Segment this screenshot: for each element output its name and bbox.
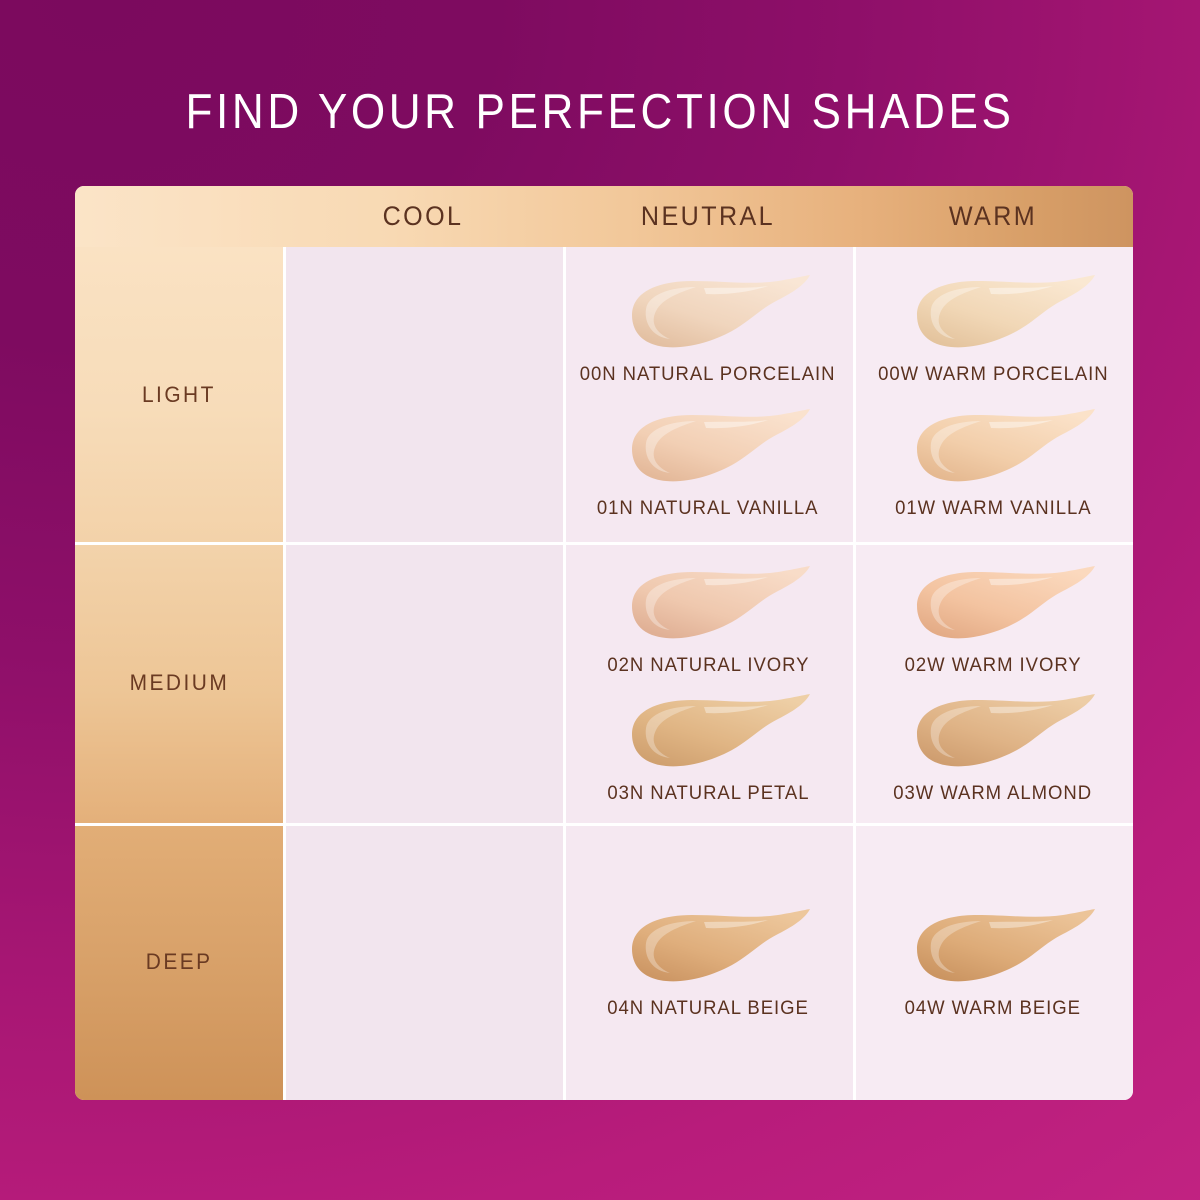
foundation-swatch-icon (885, 903, 1101, 995)
header-cell-warm: WARM (863, 186, 1123, 247)
foundation-swatch-icon (600, 688, 816, 780)
shade-item[interactable]: 00N NATURAL PORCELAIN (563, 269, 853, 386)
cell-medium-cool (283, 542, 563, 823)
header-cell-neutral: NEUTRAL (573, 186, 843, 247)
table-header-row: COOL NEUTRAL WARM (75, 186, 1133, 247)
tone-label-light: LIGHT (142, 382, 216, 408)
tone-label-deep: DEEP (146, 949, 213, 975)
shade-item[interactable]: 04N NATURAL BEIGE (563, 903, 853, 1020)
header-cell-cool: COOL (293, 186, 553, 247)
shade-name: 00W WARM PORCELAIN (878, 363, 1109, 386)
cell-deep-cool (283, 823, 563, 1100)
tone-cell-deep: DEEP (75, 823, 283, 1100)
shade-item[interactable]: 00W WARM PORCELAIN (853, 269, 1133, 386)
tone-label-medium: MEDIUM (129, 670, 229, 696)
cell-deep-warm: 04W WARM BEIGE (853, 823, 1133, 1100)
shade-name: 02N NATURAL IVORY (607, 654, 809, 677)
foundation-swatch-icon (885, 269, 1101, 361)
table-row: MEDIUM (75, 542, 1133, 823)
foundation-swatch-icon (600, 560, 816, 652)
table-row: DEEP (75, 823, 1133, 1100)
cell-light-warm: 00W WARM PORCELAIN (853, 247, 1133, 542)
shade-name: 00N NATURAL PORCELAIN (580, 363, 836, 386)
table-body: LIGHT (75, 247, 1133, 1100)
foundation-swatch-icon (885, 560, 1101, 652)
shade-name: 01N NATURAL VANILLA (597, 497, 819, 520)
shade-item[interactable]: 02W WARM IVORY (853, 560, 1133, 677)
shade-name: 04W WARM BEIGE (905, 997, 1081, 1020)
shade-name: 02W WARM IVORY (905, 654, 1082, 677)
shade-name: 04N NATURAL BEIGE (607, 997, 808, 1020)
page-title: FIND YOUR PERFECTION SHADES (60, 84, 1140, 140)
shade-matrix-table: COOL NEUTRAL WARM LIGHT (75, 186, 1133, 1100)
shade-name: 03N NATURAL PETAL (607, 782, 809, 805)
foundation-swatch-icon (600, 269, 816, 361)
header-cell-blank (82, 186, 275, 247)
foundation-swatch-icon (600, 403, 816, 495)
shade-item[interactable]: 04W WARM BEIGE (853, 903, 1133, 1020)
foundation-swatch-icon (885, 403, 1101, 495)
cell-light-cool (283, 247, 563, 542)
tone-cell-light: LIGHT (75, 247, 283, 542)
shade-item[interactable]: 01N NATURAL VANILLA (563, 403, 853, 520)
table-row: LIGHT (75, 247, 1133, 542)
foundation-swatch-icon (600, 903, 816, 995)
shade-item[interactable]: 03N NATURAL PETAL (563, 688, 853, 805)
cell-deep-neutral: 04N NATURAL BEIGE (563, 823, 853, 1100)
cell-medium-warm: 02W WARM IVORY (853, 542, 1133, 823)
shade-name: 01W WARM VANILLA (895, 497, 1091, 520)
shade-item[interactable]: 02N NATURAL IVORY (563, 560, 853, 677)
cell-medium-neutral: 02N NATURAL IVORY (563, 542, 853, 823)
cell-light-neutral: 00N NATURAL PORCELAIN (563, 247, 853, 542)
shade-item[interactable]: 01W WARM VANILLA (853, 403, 1133, 520)
tone-cell-medium: MEDIUM (75, 542, 283, 823)
foundation-swatch-icon (885, 688, 1101, 780)
shade-finder-page: FIND YOUR PERFECTION SHADES COOL NEUTRAL… (0, 0, 1200, 1200)
shade-name: 03W WARM ALMOND (894, 782, 1093, 805)
shade-item[interactable]: 03W WARM ALMOND (853, 688, 1133, 805)
